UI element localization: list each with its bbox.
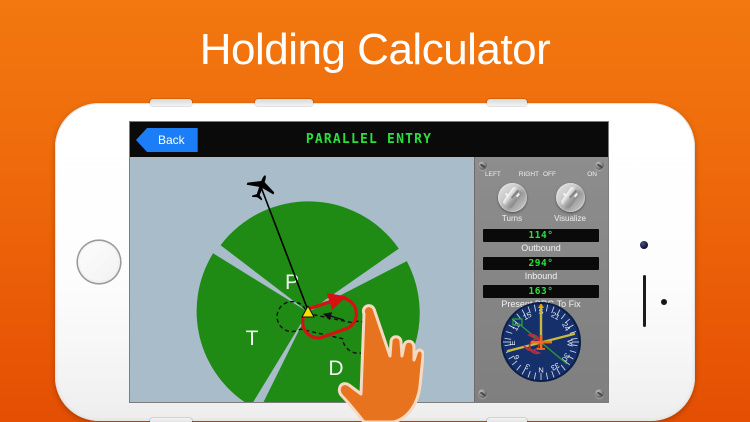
app-navbar: Back PARALLEL ENTRY <box>130 122 608 157</box>
home-button[interactable] <box>78 241 120 283</box>
earpiece-speaker-icon <box>643 275 646 327</box>
panel-screw-bottom-right <box>595 389 604 398</box>
visualize-tick-right <box>574 193 578 197</box>
readout-stack: 114° Outbound 294° Inbound 163° Present … <box>483 229 599 313</box>
svg-text:W: W <box>566 339 575 347</box>
volume-up-button[interactable] <box>150 99 192 106</box>
visualize-off-label: OFF <box>543 171 556 178</box>
hand-pointer-icon <box>328 300 424 422</box>
touch-hand-cursor <box>328 300 424 422</box>
proximity-sensor-icon <box>661 299 667 305</box>
visualize-knob-label: Visualize <box>542 214 598 223</box>
antenna-band-bottom-left <box>150 418 192 422</box>
screenshot-stage: Holding Calculator Back PARALLEL ENTRY <box>0 0 750 422</box>
panel-screw-top-right <box>595 161 604 170</box>
antenna-band-bottom-right <box>487 418 527 422</box>
inbound-readout: 294° <box>483 257 599 270</box>
aircraft-symbol <box>243 171 278 204</box>
visualize-knob[interactable]: OFF ON Visualize <box>542 171 598 223</box>
turns-knob[interactable]: LEFT RIGHT Turns <box>484 171 540 223</box>
panel-screw-top-left <box>478 161 487 170</box>
turns-tick-left <box>504 193 508 197</box>
power-button[interactable] <box>487 99 527 106</box>
present-bearing-readout: 163° <box>483 285 599 298</box>
outbound-caption: Outbound <box>483 243 599 253</box>
turns-knob-dial[interactable] <box>498 183 527 212</box>
front-camera-icon <box>640 241 648 249</box>
instrument-panel: LEFT RIGHT Turns OFF ON <box>474 157 608 402</box>
svg-text:N: N <box>538 366 543 375</box>
visualize-on-label: ON <box>587 171 597 178</box>
heading-indicator[interactable]: N 3 6 E 12 15 S 21 24 W 30 33 <box>501 302 581 382</box>
turns-knob-options: LEFT RIGHT <box>484 171 540 182</box>
page-title: Holding Calculator <box>0 22 750 78</box>
turns-right-label: RIGHT <box>519 171 539 178</box>
sector-label-t: T <box>246 327 259 350</box>
turns-knob-label: Turns <box>484 214 540 223</box>
turns-tick-right <box>516 193 520 197</box>
turns-left-label: LEFT <box>485 171 501 178</box>
volume-down-button[interactable] <box>255 99 313 106</box>
knob-group: LEFT RIGHT Turns OFF ON <box>474 171 608 225</box>
svg-text:E: E <box>508 340 517 345</box>
panel-screw-bottom-left <box>478 389 487 398</box>
navbar-title: PARALLEL ENTRY <box>130 122 608 157</box>
inbound-caption: Inbound <box>483 271 599 281</box>
visualize-tick-left <box>562 193 566 197</box>
visualize-knob-dial[interactable] <box>556 183 585 212</box>
compass-rose: N 3 6 E 12 15 S 21 24 W 30 33 <box>501 302 581 382</box>
outbound-readout: 114° <box>483 229 599 242</box>
visualize-knob-options: OFF ON <box>542 171 598 182</box>
